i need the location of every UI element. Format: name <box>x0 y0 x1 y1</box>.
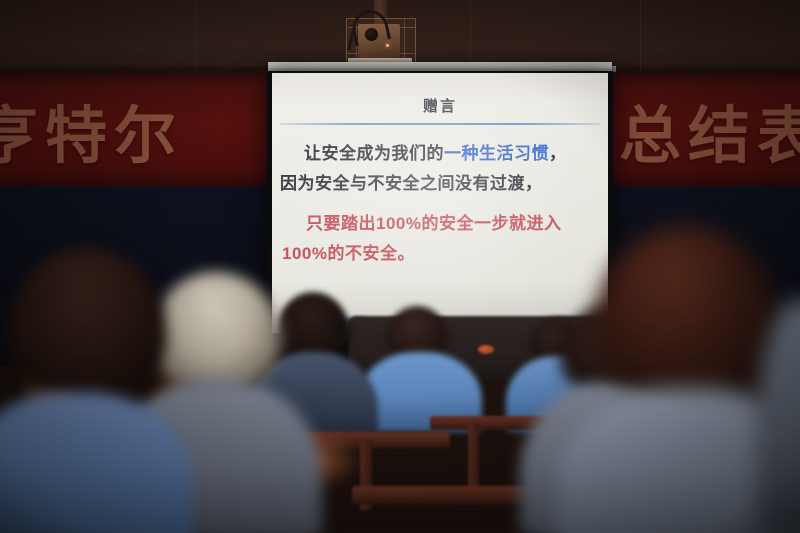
auditorium-scene: 亨特尔 总结表 赠言 让安全成为我们的一种生活习惯， 因为安全与不安全之间没有过… <box>0 0 800 533</box>
bench-leg <box>468 424 479 490</box>
person-gray-cap-head <box>150 272 282 392</box>
bench-back <box>300 432 450 448</box>
audience-foreground <box>0 0 800 533</box>
person-front-left-head <box>6 248 166 400</box>
sofa-accent-button <box>478 345 494 354</box>
person-front-right-head <box>594 226 780 404</box>
